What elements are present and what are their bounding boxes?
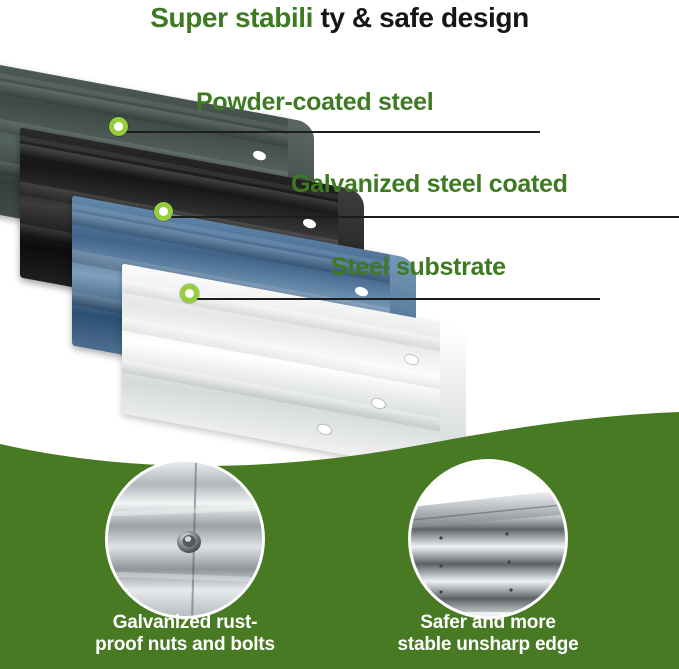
feature-caption-left-line1: Galvanized rust- bbox=[45, 612, 325, 634]
panel-bolt-hole bbox=[253, 150, 266, 161]
feature-caption-right: Safer and more stable unsharp edge bbox=[348, 612, 628, 656]
panel-bolt-hole bbox=[355, 286, 368, 297]
callout-leader-line-2 bbox=[171, 216, 679, 218]
feature-caption-right-line2: stable unsharp edge bbox=[348, 634, 628, 656]
callout-leader-line-3 bbox=[197, 298, 600, 300]
callout-leader-line-1 bbox=[126, 131, 540, 133]
bolt-closeup-graphic bbox=[108, 462, 265, 619]
rolled-edge-closeup-graphic bbox=[411, 462, 568, 619]
callout-dot-2 bbox=[154, 202, 173, 221]
callout-label-steel-substrate: Steel substrate bbox=[331, 253, 506, 282]
panel-bolt-hole bbox=[303, 218, 316, 229]
page-title-green-part: Super stabili bbox=[150, 2, 313, 33]
layered-panel-illustration bbox=[0, 72, 380, 412]
page-title: Super stabili ty & safe design bbox=[0, 2, 679, 46]
infographic-page: Super stabili ty & safe design bbox=[0, 0, 679, 669]
page-title-black-part: ty & safe design bbox=[313, 2, 529, 33]
feature-caption-left-line2: proof nuts and bolts bbox=[45, 634, 325, 656]
feature-caption-left: Galvanized rust- proof nuts and bolts bbox=[45, 612, 325, 656]
feature-caption-right-line1: Safer and more bbox=[348, 612, 628, 634]
panel-bolt-hole bbox=[405, 354, 418, 365]
bolt-closeup-photo bbox=[105, 459, 265, 619]
callout-label-powder-coated-steel: Powder-coated steel bbox=[196, 88, 433, 117]
rolled-edge-closeup-photo bbox=[408, 459, 568, 619]
callout-dot-3 bbox=[180, 284, 199, 303]
callout-label-galvanized-steel-coated: Galvanized steel coated bbox=[291, 170, 568, 199]
callout-dot-1 bbox=[109, 117, 128, 136]
